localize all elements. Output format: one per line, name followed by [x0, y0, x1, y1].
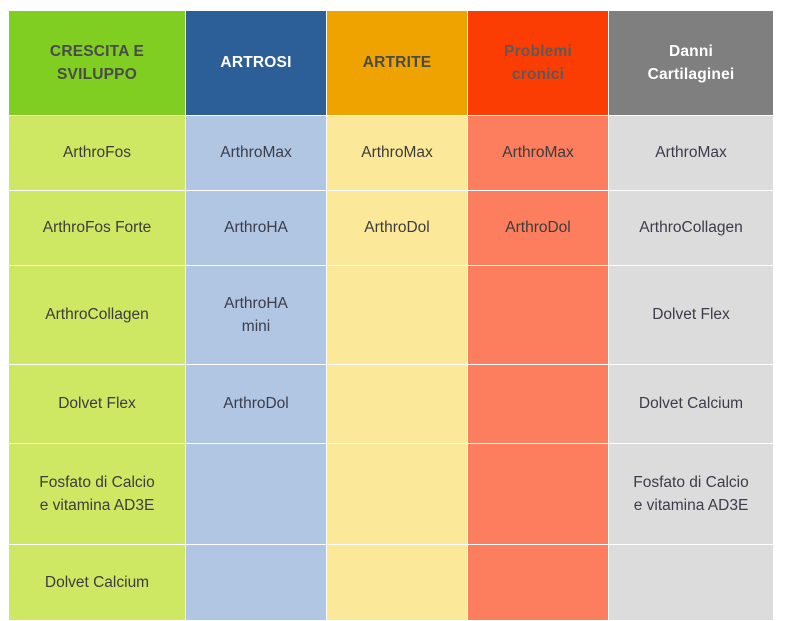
product-cell: Fosfato di Calcioe vitamina AD3E — [9, 444, 185, 544]
cell-line: ArthroDol — [192, 392, 320, 415]
empty-cell — [468, 444, 608, 544]
empty-cell — [327, 545, 467, 620]
table-row: Dolvet FlexArthroDolDolvet Calcium — [9, 365, 773, 443]
cell-line: Dolvet Flex — [615, 303, 767, 326]
header-line: ARTROSI — [192, 51, 320, 74]
header-line: cronici — [474, 63, 602, 86]
cell-line: ArthroDol — [333, 216, 461, 239]
product-cell: Dolvet Flex — [609, 266, 773, 364]
empty-cell — [468, 365, 608, 443]
cell-line: ArthroMax — [474, 141, 602, 164]
column-header-danni-cartilaginei: DanniCartilaginei — [609, 11, 773, 115]
empty-cell — [327, 444, 467, 544]
product-cell: Dolvet Calcium — [9, 545, 185, 620]
table-header: CRESCITA ESVILUPPO ARTROSI ARTRITE Probl… — [9, 11, 773, 115]
column-header-crescita: CRESCITA ESVILUPPO — [9, 11, 185, 115]
cell-line: Dolvet Calcium — [15, 571, 179, 594]
cell-line: ArthroMax — [192, 141, 320, 164]
product-cell: Fosfato di Calcioe vitamina AD3E — [609, 444, 773, 544]
product-cell: Dolvet Flex — [9, 365, 185, 443]
column-header-problemi-cronici: Problemicronici — [468, 11, 608, 115]
cell-line: ArthroFos Forte — [15, 216, 179, 239]
column-header-artrosi: ARTROSI — [186, 11, 326, 115]
product-cell: ArthroFos — [9, 116, 185, 190]
matrix-table: CRESCITA ESVILUPPO ARTROSI ARTRITE Probl… — [8, 10, 774, 621]
table-row: Fosfato di Calcioe vitamina AD3EFosfato … — [9, 444, 773, 544]
product-cell: ArthroMax — [186, 116, 326, 190]
header-line: ARTRITE — [333, 51, 461, 74]
table-body: ArthroFosArthroMaxArthroMaxArthroMaxArth… — [9, 116, 773, 620]
cell-line: e vitamina AD3E — [615, 494, 767, 517]
product-cell: ArthroHAmini — [186, 266, 326, 364]
table-row: ArthroFosArthroMaxArthroMaxArthroMaxArth… — [9, 116, 773, 190]
product-cell: ArthroMax — [609, 116, 773, 190]
empty-cell — [327, 266, 467, 364]
cell-line: ArthroHA — [192, 216, 320, 239]
product-cell: Dolvet Calcium — [609, 365, 773, 443]
empty-cell — [468, 266, 608, 364]
cell-line: Dolvet Flex — [15, 392, 179, 415]
product-cell: ArthroDol — [468, 191, 608, 265]
cell-line: e vitamina AD3E — [15, 494, 179, 517]
cell-line: ArthroCollagen — [615, 216, 767, 239]
cell-line: mini — [192, 315, 320, 338]
product-cell: ArthroCollagen — [609, 191, 773, 265]
empty-cell — [186, 444, 326, 544]
empty-cell — [186, 545, 326, 620]
header-line: Cartilaginei — [615, 63, 767, 86]
cell-line: ArthroMax — [333, 141, 461, 164]
header-row: CRESCITA ESVILUPPO ARTROSI ARTRITE Probl… — [9, 11, 773, 115]
cell-line: ArthroCollagen — [15, 303, 179, 326]
product-cell: ArthroHA — [186, 191, 326, 265]
product-cell: ArthroFos Forte — [9, 191, 185, 265]
header-line: SVILUPPO — [15, 63, 179, 86]
empty-cell — [327, 365, 467, 443]
cell-line: Fosfato di Calcio — [615, 471, 767, 494]
cell-line: ArthroDol — [474, 216, 602, 239]
cell-line: ArthroMax — [615, 141, 767, 164]
product-cell: ArthroMax — [327, 116, 467, 190]
cell-line: Dolvet Calcium — [615, 392, 767, 415]
cell-line: ArthroFos — [15, 141, 179, 164]
cell-line: Fosfato di Calcio — [15, 471, 179, 494]
product-indication-matrix: CRESCITA ESVILUPPO ARTROSI ARTRITE Probl… — [8, 10, 772, 592]
product-cell: ArthroCollagen — [9, 266, 185, 364]
table-row: ArthroFos ForteArthroHAArthroDolArthroDo… — [9, 191, 773, 265]
product-cell: ArthroDol — [327, 191, 467, 265]
empty-cell — [609, 545, 773, 620]
product-cell: ArthroMax — [468, 116, 608, 190]
column-header-artrite: ARTRITE — [327, 11, 467, 115]
header-line: Problemi — [474, 40, 602, 63]
product-cell: ArthroDol — [186, 365, 326, 443]
header-line: CRESCITA E — [15, 40, 179, 63]
table-row: ArthroCollagenArthroHAminiDolvet Flex — [9, 266, 773, 364]
cell-line: ArthroHA — [192, 292, 320, 315]
table-row: Dolvet Calcium — [9, 545, 773, 620]
empty-cell — [468, 545, 608, 620]
header-line: Danni — [615, 40, 767, 63]
